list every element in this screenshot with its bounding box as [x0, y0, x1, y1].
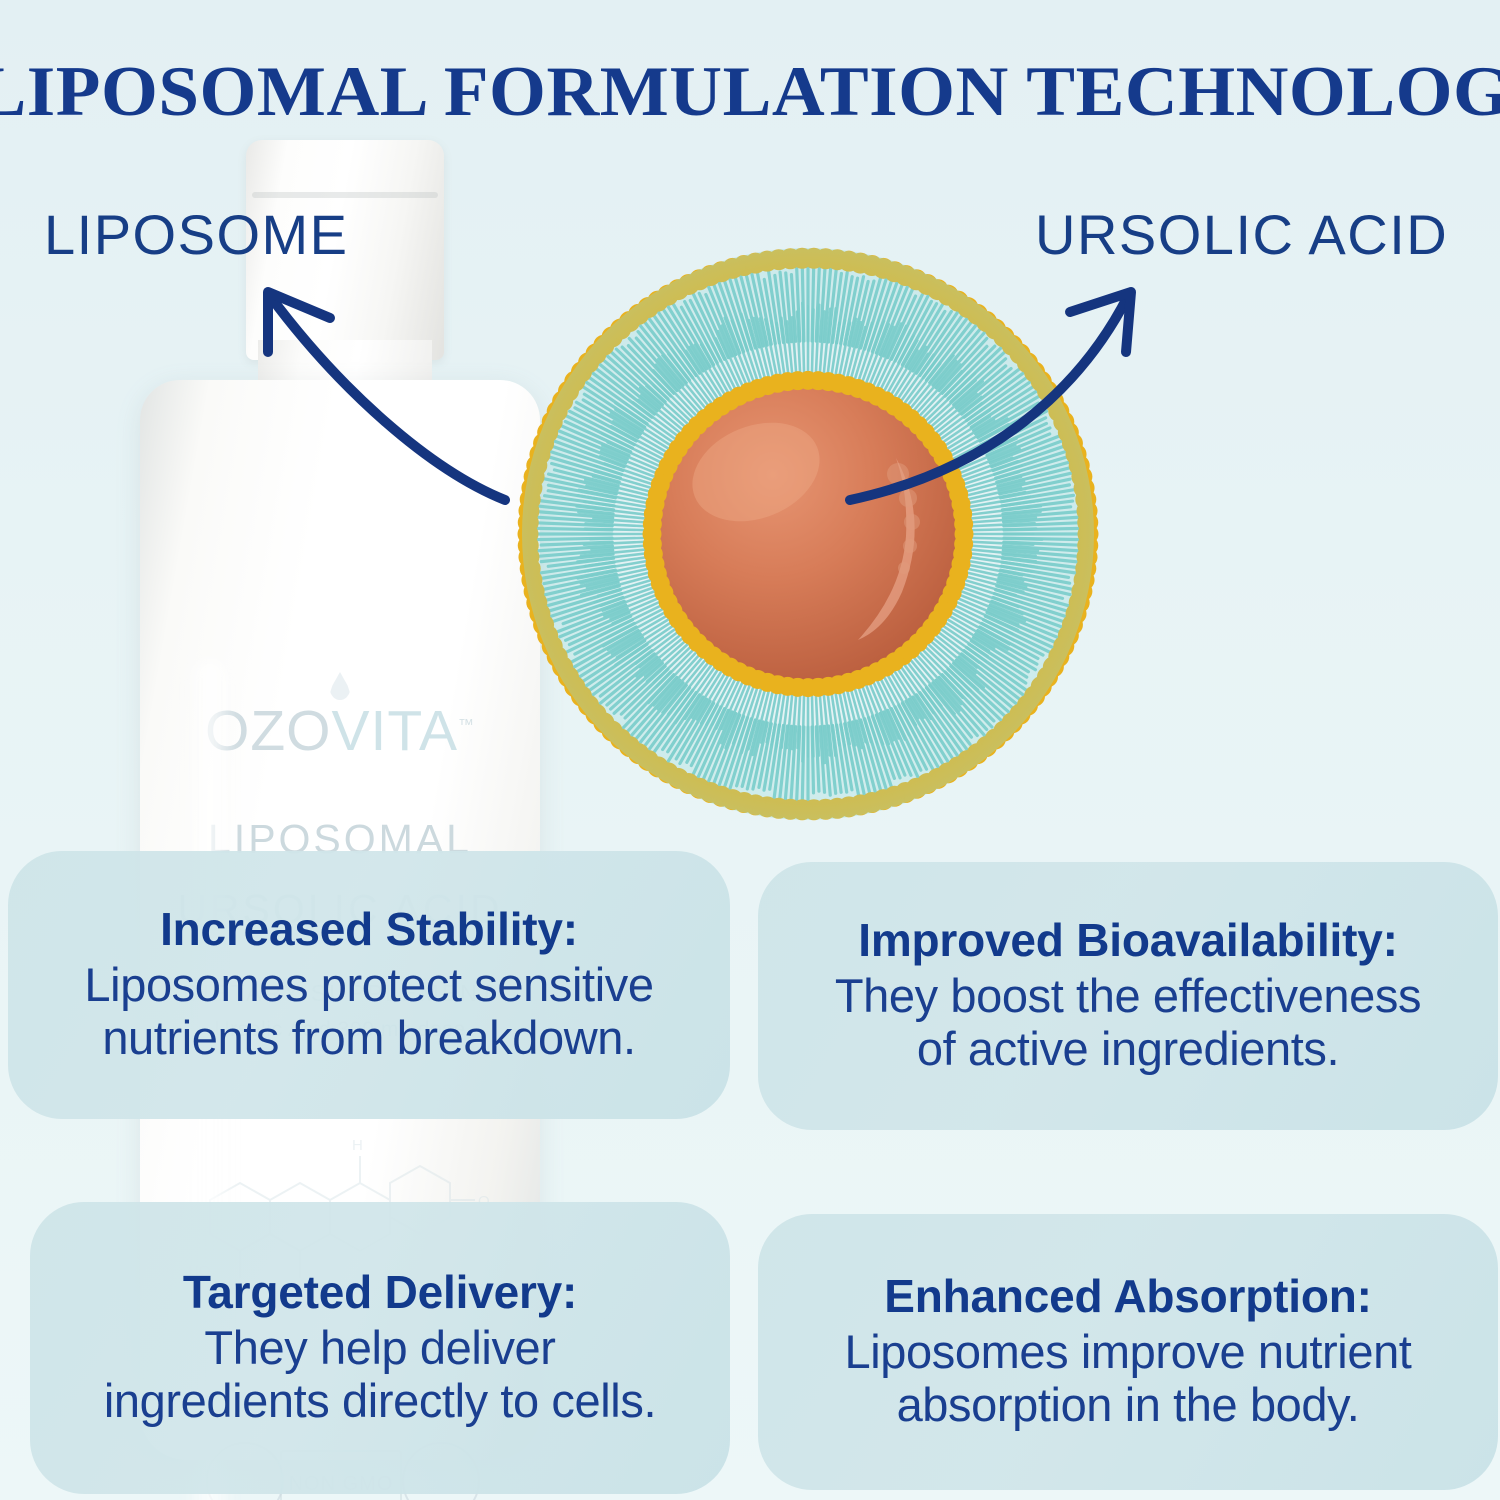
trademark-symbol: ™ — [458, 717, 475, 734]
page-title: LIPOSOMAL FORMULATION TECHNOLOGY — [0, 52, 1500, 133]
benefit-body: Liposomes improve nutrient absorption in… — [845, 1325, 1412, 1432]
svg-text:H: H — [352, 1137, 363, 1154]
arrow-liposome-line — [270, 296, 505, 500]
infographic-canvas: LIPOSOMAL FORMULATION TECHNOLOGY HH — [0, 0, 1500, 1500]
droplet-icon — [330, 672, 350, 700]
benefit-heading: Increased Stability: — [160, 905, 578, 954]
benefit-body: They help deliver ingredients directly t… — [104, 1321, 656, 1428]
benefit-heading: Enhanced Absorption: — [884, 1272, 1372, 1321]
benefit-card-enhanced-absorption: Enhanced Absorption: Liposomes improve n… — [758, 1214, 1498, 1490]
liposome-diagram — [498, 246, 1118, 822]
benefit-card-improved-bioavailability: Improved Bioavailability: They boost the… — [758, 862, 1498, 1130]
brand-secondary: VITA — [332, 699, 458, 763]
bottle-brand: OZOVITA™ — [140, 698, 540, 764]
benefit-card-increased-stability: Increased Stability: Liposomes protect s… — [8, 851, 730, 1119]
benefit-body: They boost the effectiveness of active i… — [835, 969, 1421, 1076]
callout-label-ursolic-acid: URSOLIC ACID — [1035, 202, 1448, 267]
benefit-heading: Targeted Delivery: — [183, 1268, 577, 1317]
arrow-liposome-head — [268, 292, 330, 352]
benefit-heading: Improved Bioavailability: — [858, 916, 1397, 965]
callout-label-liposome: LIPOSOME — [44, 202, 349, 267]
liposome-svg — [498, 246, 1118, 822]
brand-primary: OZO — [205, 699, 332, 763]
benefit-card-targeted-delivery: Targeted Delivery: They help deliver ing… — [30, 1202, 730, 1494]
bottle-neck — [258, 340, 432, 420]
benefit-body: Liposomes protect sensitive nutrients fr… — [84, 958, 653, 1065]
